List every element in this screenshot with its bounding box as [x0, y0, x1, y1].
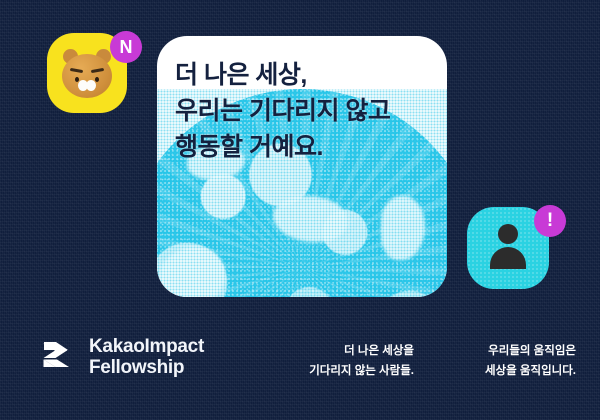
brand-logo[interactable]: KakaoImpact Fellowship — [42, 336, 204, 378]
footer-caption-2: 우리들의 움직임은 세상을 움직입니다. — [424, 341, 576, 381]
person-head — [498, 224, 518, 244]
ryan-eyebrow-left — [70, 68, 83, 73]
brand-logo-text: KakaoImpact Fellowship — [89, 336, 204, 378]
notification-badge-exclamation[interactable]: ! — [534, 205, 566, 237]
footer-caption-1: 더 나은 세상을 기다리지 않는 사람들. — [268, 341, 414, 381]
poster-canvas: 더 나은 세상, 우리는 기다리지 않고 행동할 거예요. N — [0, 0, 600, 420]
ryan-face-icon — [62, 52, 112, 98]
hero-card: 더 나은 세상, 우리는 기다리지 않고 행동할 거예요. — [157, 36, 447, 297]
notification-badge-n[interactable]: N — [110, 31, 142, 63]
page-title: 더 나은 세상, 우리는 기다리지 않고 행동할 거예요. — [157, 36, 447, 165]
ryan-muzzle-lobe — [86, 80, 96, 91]
person-shoulders — [490, 247, 526, 269]
ryan-muzzle — [78, 80, 96, 92]
person-icon — [489, 224, 527, 274]
ryan-head — [62, 54, 112, 98]
double-chevron-right-icon — [42, 340, 80, 374]
ryan-eyebrow-right — [91, 68, 104, 73]
